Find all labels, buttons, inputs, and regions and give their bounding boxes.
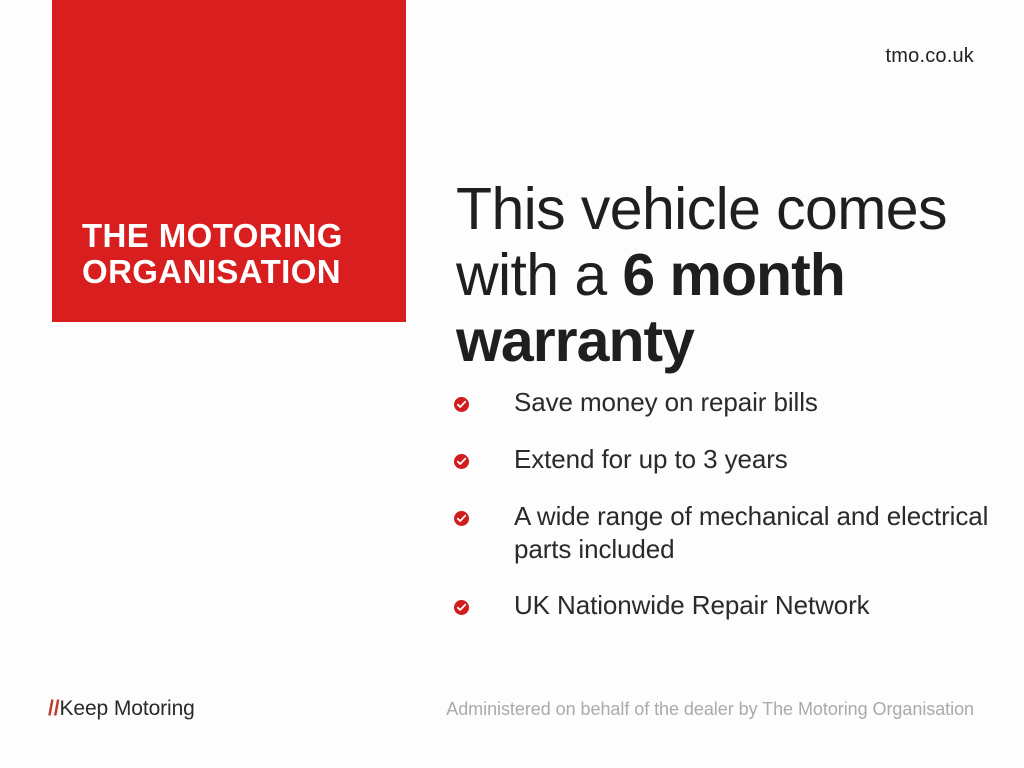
benefit-label: UK Nationwide Repair Network: [514, 589, 994, 622]
benefit-label: Extend for up to 3 years: [514, 443, 994, 476]
brand-wordmark: THE MOTORING ORGANISATION: [82, 218, 392, 290]
check-circle-icon: [454, 511, 469, 526]
check-circle-icon: [454, 600, 469, 615]
list-item: Save money on repair bills: [454, 386, 994, 420]
benefit-label: Save money on repair bills: [514, 386, 994, 419]
page-title: This vehicle comes with a 6 month warran…: [456, 176, 1001, 374]
footer-tagline-label: Keep Motoring: [59, 697, 194, 720]
warranty-poster: THE MOTORING ORGANISATION tmo.co.uk This…: [0, 0, 1024, 768]
check-circle-icon: [454, 454, 469, 469]
check-circle-icon: [454, 397, 469, 412]
benefit-label: A wide range of mechanical and electrica…: [514, 500, 994, 566]
footer-tagline: //Keep Motoring: [48, 697, 195, 721]
brand-wordmark-line-1: THE MOTORING: [82, 218, 392, 254]
list-item: Extend for up to 3 years: [454, 443, 994, 477]
benefits-list: Save money on repair bills Extend for up…: [454, 386, 994, 623]
list-item: A wide range of mechanical and electrica…: [454, 500, 994, 566]
list-item: UK Nationwide Repair Network: [454, 589, 994, 623]
brand-wordmark-line-2: ORGANISATION: [82, 254, 392, 290]
footer-administered-note: Administered on behalf of the dealer by …: [446, 699, 974, 720]
site-url[interactable]: tmo.co.uk: [886, 45, 975, 68]
double-slash-icon: //: [48, 697, 59, 720]
brand-logo-block: THE MOTORING ORGANISATION: [52, 0, 406, 322]
